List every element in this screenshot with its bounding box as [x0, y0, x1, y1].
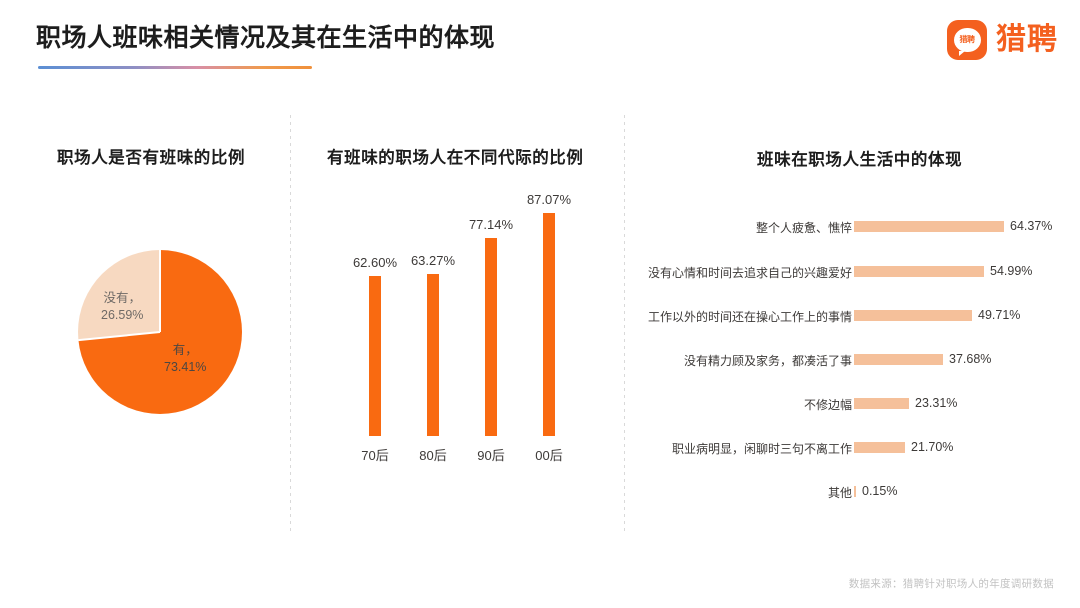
data-source-note: 数据来源：猎聘针对职场人的年度调研数据 — [849, 576, 1054, 591]
logo-mark-text: 猎聘 — [960, 36, 975, 44]
pie-chart: 没有， 26.59% 有， 73.41% — [78, 250, 242, 414]
hbar-rect — [854, 310, 972, 321]
bar-category-label: 70后 — [345, 445, 405, 464]
hbar-row: 没有心情和时间去追求自己的兴趣爱好 54.99% — [640, 261, 1070, 283]
logo-mark-icon: 猎聘 — [947, 20, 987, 60]
hbar-value-label: 54.99% — [990, 264, 1032, 278]
pie-slice-label-no: 没有， 26.59% — [101, 290, 143, 324]
pie-slice-label-yes: 有， 73.41% — [164, 342, 206, 376]
hbar-value-label: 37.68% — [949, 352, 991, 366]
bar-rect — [543, 213, 555, 436]
hbar-category-label: 没有心情和时间去追求自己的兴趣爱好 — [640, 264, 852, 281]
logo-wordmark: 猎聘 — [996, 25, 1058, 55]
bar-category-label: 00后 — [519, 445, 579, 464]
hbar-category-label: 职业病明显，闲聊时三句不离工作 — [640, 440, 852, 457]
horizontal-bar-chart: 整个人疲惫、憔悴 64.37% 没有心情和时间去追求自己的兴趣爱好 54.99%… — [640, 205, 1070, 490]
bar-chart-title: 有班味的职场人在不同代际的比例 — [327, 144, 584, 168]
bar-value-label: 87.07% — [519, 192, 579, 207]
hbar-rect — [854, 221, 1004, 232]
hbar-category-label: 不修边幅 — [640, 396, 852, 413]
speech-bubble-icon: 猎聘 — [954, 28, 981, 52]
bar-value-label: 77.14% — [461, 217, 521, 232]
bar-rect — [485, 238, 497, 436]
bar-value-label: 62.60% — [345, 255, 405, 270]
brand-logo: 猎聘 猎聘 — [947, 20, 1058, 60]
slide-canvas: 职场人班味相关情况及其在生活中的体现 猎聘 猎聘 职场人是否有班味的比例 没有，… — [0, 0, 1080, 608]
hbar-category-label: 整个人疲惫、憔悴 — [640, 219, 852, 236]
hbar-row: 其他 0.15% — [640, 481, 1070, 503]
bar-rect — [369, 276, 381, 436]
hbar-row: 整个人疲惫、憔悴 64.37% — [640, 216, 1070, 238]
hbar-rect — [854, 266, 984, 277]
hbar-rect — [854, 354, 943, 365]
bar-category-label: 90后 — [461, 445, 521, 464]
hbar-rect — [854, 398, 909, 409]
hbar-row: 没有精力顾及家务，都凑活了事 37.68% — [640, 349, 1070, 371]
hbar-category-label: 其他 — [640, 484, 852, 501]
vertical-bar-chart: 62.60% 70后 63.27% 80后 77.14% 90后 87.07% … — [330, 190, 600, 470]
bar-rect — [427, 274, 439, 436]
hbar-rect — [854, 442, 905, 453]
hbar-value-label: 0.15% — [862, 484, 897, 498]
bar-value-label: 63.27% — [403, 253, 463, 268]
hbar-value-label: 49.71% — [978, 308, 1020, 322]
hbar-row: 不修边幅 23.31% — [640, 393, 1070, 415]
horizontal-bar-chart-title: 班味在职场人生活中的体现 — [757, 146, 962, 170]
hbar-rect — [854, 486, 856, 497]
pie-separator-start — [159, 250, 161, 332]
hbar-value-label: 21.70% — [911, 440, 953, 454]
hbar-row: 工作以外的时间还在操心工作上的事情 49.71% — [640, 305, 1070, 327]
page-title: 职场人班味相关情况及其在生活中的体现 — [36, 18, 495, 54]
pie-separator-end — [78, 331, 160, 341]
pie-chart-title: 职场人是否有班味的比例 — [57, 144, 245, 168]
panel-divider-2 — [624, 115, 625, 532]
bar-category-label: 80后 — [403, 445, 463, 464]
hbar-category-label: 工作以外的时间还在操心工作上的事情 — [640, 308, 852, 325]
title-underline-rule — [38, 66, 312, 69]
hbar-row: 职业病明显，闲聊时三句不离工作 21.70% — [640, 437, 1070, 459]
panel-divider-1 — [290, 115, 291, 532]
hbar-value-label: 64.37% — [1010, 219, 1052, 233]
hbar-value-label: 23.31% — [915, 396, 957, 410]
hbar-category-label: 没有精力顾及家务，都凑活了事 — [640, 352, 852, 369]
pie-graphic — [78, 250, 242, 414]
